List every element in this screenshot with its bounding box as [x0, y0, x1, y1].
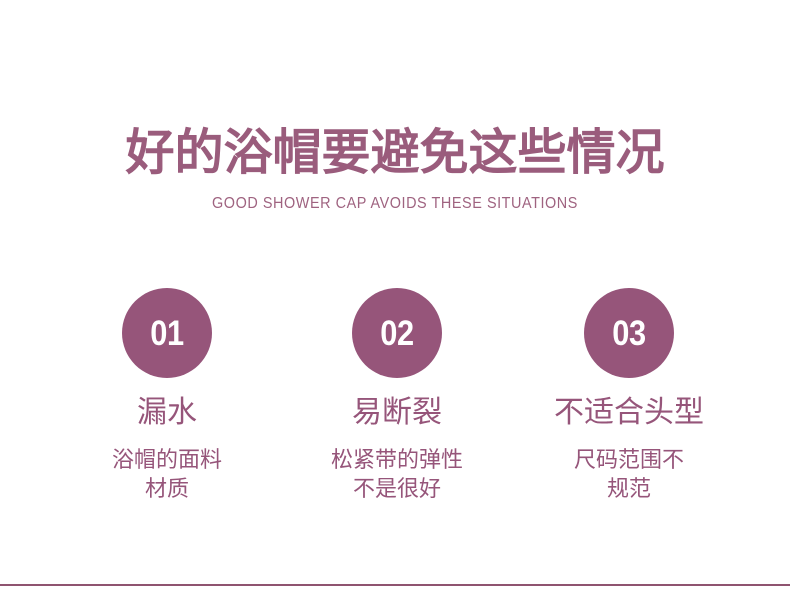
promo-banner: 好的浴帽要避免这些情况 GOOD SHOWER CAP AVOIDS THESE…: [0, 0, 790, 589]
feature-title-3: 不适合头型: [554, 396, 704, 431]
feature-column-3: 03 不适合头型 尺码范围不 规范: [518, 288, 740, 503]
number-badge-02: 02: [352, 288, 442, 378]
feature-description-line-2: 不是很好: [331, 474, 463, 503]
page-subtitle: GOOD SHOWER CAP AVOIDS THESE SITUATIONS: [28, 195, 763, 213]
badge-number-label: 02: [380, 316, 413, 351]
number-badge-01: 01: [122, 288, 212, 378]
number-badge-03: 03: [584, 288, 674, 378]
feature-description-1: 浴帽的面料 材质: [112, 445, 222, 503]
feature-description-2: 松紧带的弹性 不是很好: [331, 445, 463, 503]
page-title: 好的浴帽要避免这些情况: [0, 126, 790, 181]
feature-column-1: 01 漏水 浴帽的面料 材质: [56, 288, 278, 503]
feature-description-line-1: 浴帽的面料: [112, 445, 222, 474]
badge-number-label: 01: [150, 316, 183, 351]
feature-column-2: 02 易断裂 松紧带的弹性 不是很好: [286, 288, 508, 503]
feature-title-1: 漏水: [137, 396, 197, 431]
badge-number-label: 03: [612, 316, 645, 351]
feature-title-2: 易断裂: [352, 396, 442, 431]
feature-description-line-1: 尺码范围不: [574, 445, 684, 474]
feature-description-3: 尺码范围不 规范: [574, 445, 684, 503]
feature-columns: 01 漏水 浴帽的面料 材质 02 易断裂 松紧带的弹性 不是很好 03 不适合…: [0, 288, 790, 503]
feature-description-line-2: 材质: [112, 474, 222, 503]
feature-description-line-2: 规范: [574, 474, 684, 503]
header-block: 好的浴帽要避免这些情况 GOOD SHOWER CAP AVOIDS THESE…: [0, 126, 790, 213]
feature-description-line-1: 松紧带的弹性: [331, 445, 463, 474]
bottom-divider: [0, 584, 790, 586]
